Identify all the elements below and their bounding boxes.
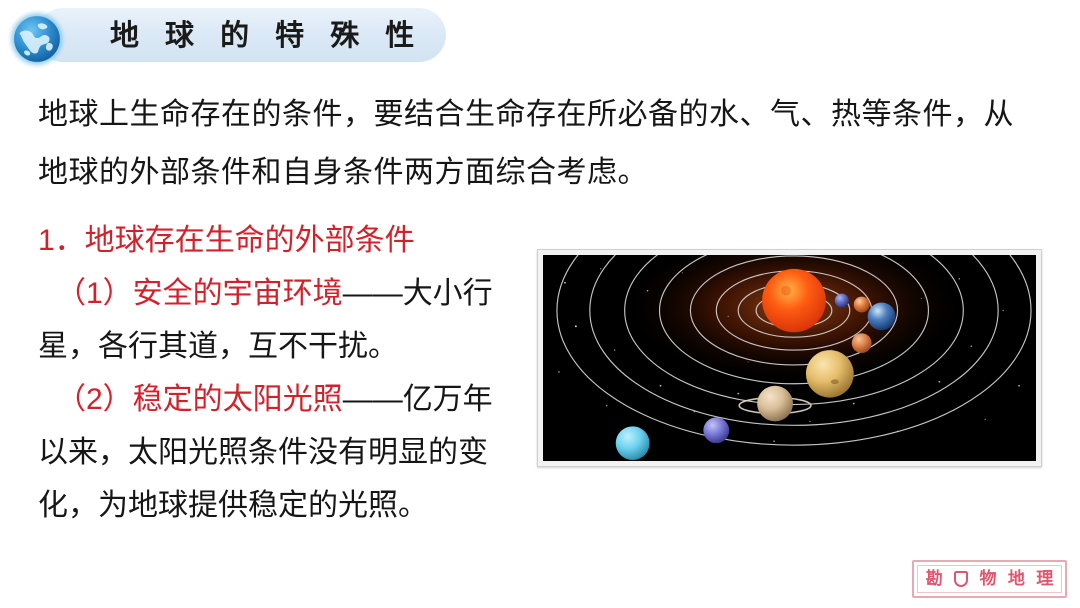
item-2-continuation: 以来，太阳光照条件没有明显的变 [38, 426, 533, 479]
uranus-body [616, 426, 650, 460]
list-item: （2）稳定的太阳光照——亿万年 [38, 373, 533, 426]
list-item: （1）安全的宇宙环境——大小行 [38, 267, 533, 320]
item-2-continuation-2: 化，为地球提供稳定的光照。 [38, 479, 533, 532]
solar-system-diagram [543, 255, 1036, 461]
seal-shield-icon [954, 571, 968, 587]
seal-glyph-1: 勘 [926, 571, 943, 588]
points-heading: 1．地球存在生命的外部条件 [38, 214, 533, 267]
solar-system-image-frame [537, 249, 1042, 467]
item-2-label: （2）稳定的太阳光照 [56, 383, 343, 416]
mars-body [852, 333, 872, 353]
neptune-body [703, 417, 729, 443]
item-2-body: ——亿万年 [343, 383, 493, 416]
item-1-continuation: 星，各行其道，互不干扰。 [38, 320, 533, 373]
points-list: 1．地球存在生命的外部条件 （1）安全的宇宙环境——大小行 星，各行其道，互不干… [38, 214, 533, 532]
seal-glyph-5: 理 [1036, 571, 1053, 588]
seal-glyph-3: 物 [979, 571, 996, 588]
earth-body [868, 303, 896, 331]
jupiter-body [806, 350, 854, 398]
mercury-body [835, 294, 849, 308]
venus-body [854, 297, 870, 313]
item-1-body: ——大小行 [343, 277, 493, 310]
seal-glyph-4: 地 [1008, 571, 1025, 588]
page-title: 地 球 的 特 殊 性 [110, 12, 423, 54]
publisher-seal: 勘 物 地 理 [912, 560, 1067, 598]
intro-paragraph: 地球上生命存在的条件，要结合生命存在所必备的水、气、热等条件，从地球的外部条件和… [38, 86, 1028, 202]
sun-body [762, 269, 826, 332]
item-1-label: （1）安全的宇宙环境 [56, 277, 343, 310]
globe-earth-icon [6, 8, 68, 70]
